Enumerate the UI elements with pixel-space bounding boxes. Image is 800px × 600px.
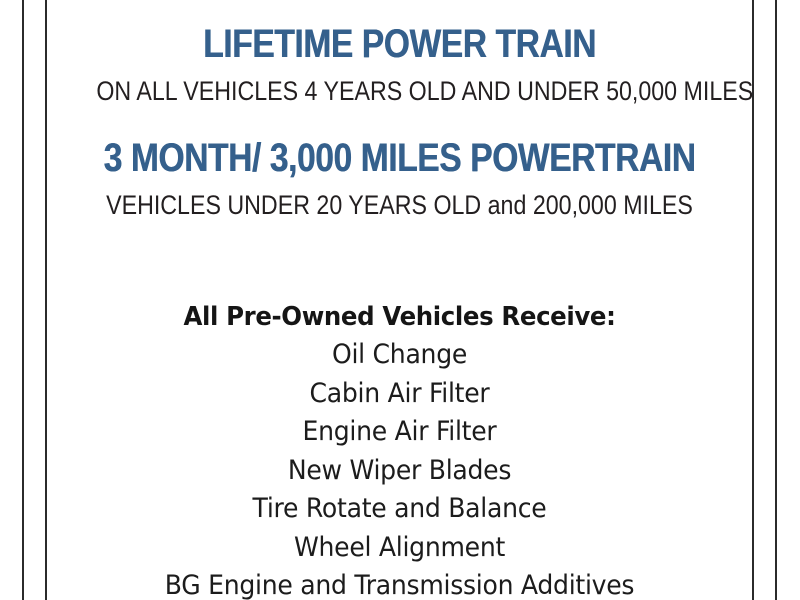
warranty-subhead-three-month: VEHICLES UNDER 20 YEARS OLD and 200,000 …: [96, 190, 702, 220]
services-list-item: Oil Change: [72, 336, 728, 375]
flyer-page: LIFETIME POWER TRAIN ON ALL VEHICLES 4 Y…: [0, 0, 800, 600]
services-list-item: Cabin Air Filter: [72, 375, 728, 414]
services-section-title: All Pre-Owned Vehicles Receive:: [68, 298, 731, 336]
services-list-item: Tire Rotate and Balance: [72, 490, 728, 529]
warranty-headline-three-month: 3 MONTH/ 3,000 MILES POWERTRAIN: [103, 136, 695, 180]
services-list-item: Engine Air Filter: [72, 413, 728, 452]
warranty-headline-lifetime: LIFETIME POWER TRAIN: [103, 22, 695, 66]
warranty-block-three-month-powertrain: 3 MONTH/ 3,000 MILES POWERTRAIN VEHICLES…: [47, 136, 752, 220]
warranty-subhead-lifetime: ON ALL VEHICLES 4 YEARS OLD AND UNDER 50…: [96, 76, 702, 106]
services-list: Oil ChangeCabin Air FilterEngine Air Fil…: [47, 336, 752, 600]
content-column: LIFETIME POWER TRAIN ON ALL VEHICLES 4 Y…: [47, 0, 752, 600]
services-section: All Pre-Owned Vehicles Receive: Oil Chan…: [47, 298, 752, 600]
services-list-item: New Wiper Blades: [72, 452, 728, 491]
services-list-item: Wheel Alignment: [72, 529, 728, 568]
right-outer-rule: [775, 0, 777, 600]
left-outer-rule: [22, 0, 24, 600]
warranty-block-lifetime-power-train: LIFETIME POWER TRAIN ON ALL VEHICLES 4 Y…: [47, 22, 752, 106]
services-list-item: BG Engine and Transmission Additives: [72, 567, 728, 600]
